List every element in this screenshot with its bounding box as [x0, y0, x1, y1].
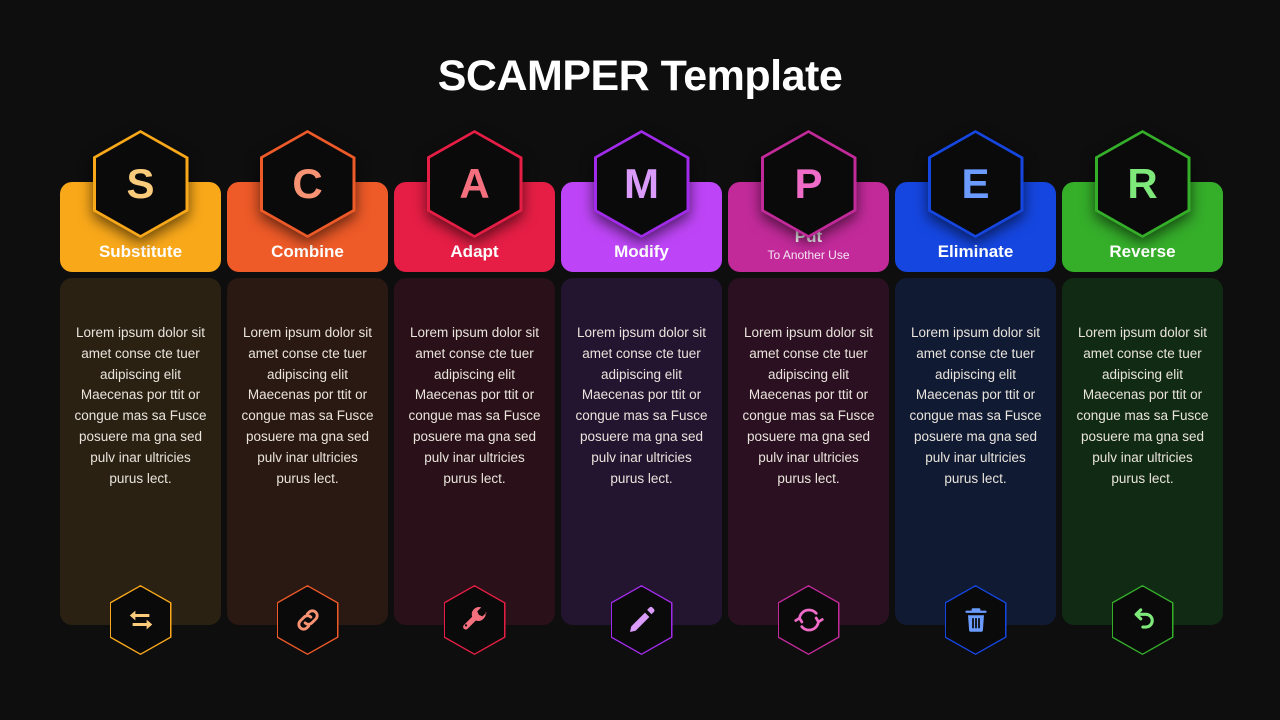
scamper-column-eliminate[interactable]: Eliminate E Lorem ipsum dolor sit amet c…: [895, 130, 1056, 625]
column-body-card[interactable]: Lorem ipsum dolor sit amet conse cte tue…: [728, 278, 889, 625]
chain-link-icon-hexagon[interactable]: [277, 585, 339, 655]
letter-hexagon-p: P: [761, 130, 857, 238]
column-letter: A: [459, 163, 489, 205]
column-body-card[interactable]: Lorem ipsum dolor sit amet conse cte tue…: [561, 278, 722, 625]
letter-hexagon-m: M: [594, 130, 690, 238]
column-body-text: Lorem ipsum dolor sit amet conse cte tue…: [742, 323, 875, 489]
column-body-text: Lorem ipsum dolor sit amet conse cte tue…: [74, 323, 207, 489]
column-subtitle: To Another Use: [767, 248, 849, 262]
scamper-column-combine[interactable]: Combine C Lorem ipsum dolor sit amet con…: [227, 130, 388, 625]
column-title: Reverse: [1109, 242, 1175, 262]
column-body-text: Lorem ipsum dolor sit amet conse cte tue…: [909, 323, 1042, 489]
scamper-column-adapt[interactable]: Adapt A Lorem ipsum dolor sit amet conse…: [394, 130, 555, 625]
column-title: Combine: [271, 242, 344, 262]
column-letter: R: [1127, 163, 1157, 205]
column-body-card[interactable]: Lorem ipsum dolor sit amet conse cte tue…: [227, 278, 388, 625]
scamper-column-substitute[interactable]: Substitute S Lorem ipsum dolor sit amet …: [60, 130, 221, 625]
page-title: SCAMPER Template: [0, 0, 1280, 101]
wrench-icon: [460, 605, 490, 635]
column-title: Substitute: [99, 242, 182, 262]
recycle-icon-hexagon[interactable]: [778, 585, 840, 655]
letter-hexagon-a: A: [427, 130, 523, 238]
undo-arrow-icon-hexagon[interactable]: [1112, 585, 1174, 655]
recycle-icon: [794, 605, 824, 635]
column-letter: S: [126, 163, 154, 205]
column-body-text: Lorem ipsum dolor sit amet conse cte tue…: [1076, 323, 1209, 489]
letter-hexagon-s: S: [93, 130, 189, 238]
column-body-card[interactable]: Lorem ipsum dolor sit amet conse cte tue…: [1062, 278, 1223, 625]
undo-arrow-icon: [1128, 605, 1158, 635]
column-body-card[interactable]: Lorem ipsum dolor sit amet conse cte tue…: [60, 278, 221, 625]
pencil-icon-hexagon[interactable]: [611, 585, 673, 655]
scamper-column-reverse[interactable]: Reverse R Lorem ipsum dolor sit amet con…: [1062, 130, 1223, 625]
letter-hexagon-e: E: [928, 130, 1024, 238]
chain-link-icon: [293, 605, 323, 635]
column-letter: M: [624, 163, 659, 205]
swap-arrows-icon-hexagon[interactable]: [110, 585, 172, 655]
scamper-column-modify[interactable]: Modify M Lorem ipsum dolor sit amet cons…: [561, 130, 722, 625]
trash-bin-icon-hexagon[interactable]: [945, 585, 1007, 655]
column-body-text: Lorem ipsum dolor sit amet conse cte tue…: [241, 323, 374, 489]
column-letter: C: [292, 163, 322, 205]
column-body-card[interactable]: Lorem ipsum dolor sit amet conse cte tue…: [394, 278, 555, 625]
column-body-text: Lorem ipsum dolor sit amet conse cte tue…: [408, 323, 541, 489]
column-title: Adapt: [450, 242, 498, 262]
wrench-icon-hexagon[interactable]: [444, 585, 506, 655]
column-letter: P: [794, 163, 822, 205]
column-letter: E: [961, 163, 989, 205]
column-body-text: Lorem ipsum dolor sit amet conse cte tue…: [575, 323, 708, 489]
letter-hexagon-c: C: [260, 130, 356, 238]
column-title: Modify: [614, 242, 669, 262]
letter-hexagon-r: R: [1095, 130, 1191, 238]
trash-bin-icon: [961, 605, 991, 635]
swap-arrows-icon: [126, 605, 156, 635]
column-body-card[interactable]: Lorem ipsum dolor sit amet conse cte tue…: [895, 278, 1056, 625]
scamper-board: Substitute S Lorem ipsum dolor sit amet …: [60, 130, 1220, 625]
pencil-icon: [627, 605, 657, 635]
column-title: Eliminate: [938, 242, 1014, 262]
scamper-column-put[interactable]: Put To Another Use P Lorem ipsum dolor s…: [728, 130, 889, 625]
